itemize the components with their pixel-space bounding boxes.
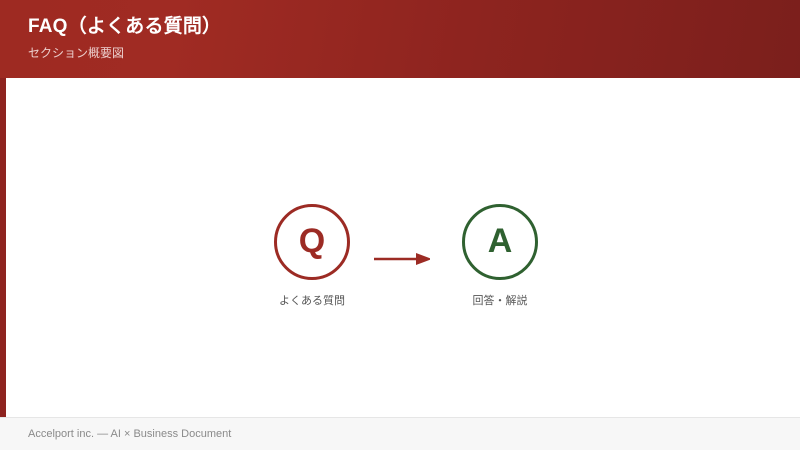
page-title: FAQ（よくある質問） [28,14,800,40]
page-subtitle: セクション概要図 [28,44,800,62]
answer-letter: A [488,224,513,258]
arrow-right-icon [374,252,430,266]
answer-caption: 回答・解説 [445,294,555,309]
slide-body: Q よくある質問 A 回答・解説 [6,78,800,417]
diagram-node-answer[interactable]: A 回答・解説 [445,204,555,309]
slide: FAQ（よくある質問） セクション概要図 Q よくある質問 [0,0,800,450]
question-letter: Q [299,224,325,258]
diagram-node-question[interactable]: Q よくある質問 [257,204,367,309]
faq-flow-diagram: Q よくある質問 A 回答・解説 [6,78,800,417]
slide-header: FAQ（よくある質問） セクション概要図 [0,0,800,78]
question-caption: よくある質問 [257,294,367,309]
answer-circle-icon: A [462,204,538,280]
slide-footer: Accelport inc. — AI × Business Document [0,417,800,450]
footer-text: Accelport inc. — AI × Business Document [28,427,231,442]
question-circle-icon: Q [274,204,350,280]
